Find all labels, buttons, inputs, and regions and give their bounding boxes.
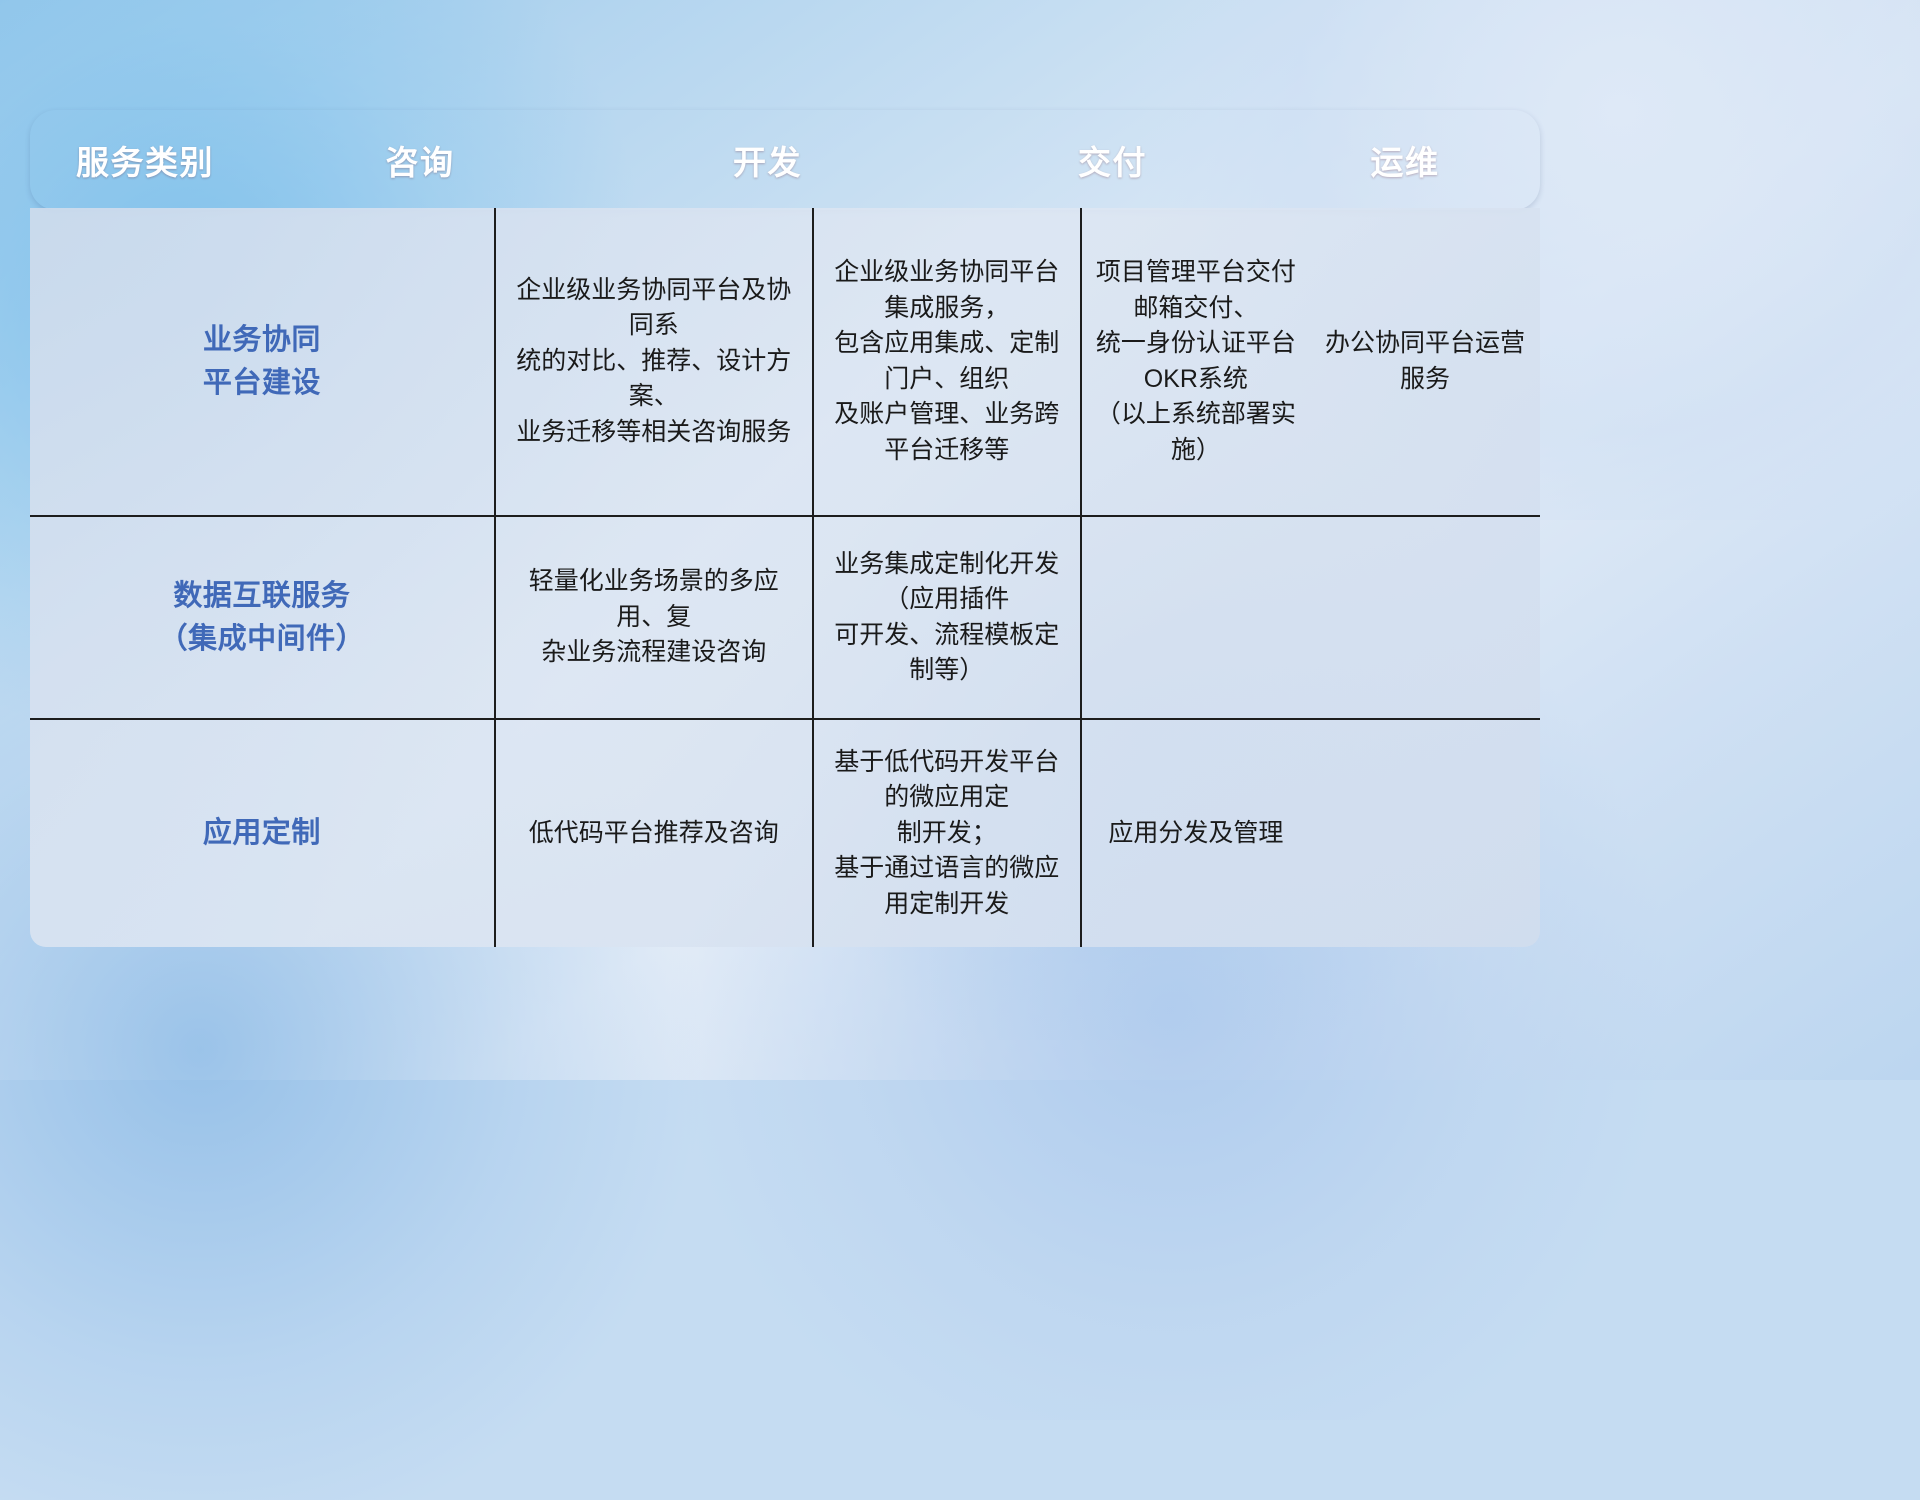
table-row: 业务协同 平台建设 企业级业务协同平台及协同系 统的对比、推荐、设计方案、 业务… — [30, 208, 1540, 515]
cell-operations: 办公协同平台运营服务 — [1310, 208, 1540, 515]
column-header-development: 开发 — [580, 110, 955, 210]
cell-development: 企业级业务协同平台集成服务， 包含应用集成、定制门户、组织 及账户管理、业务跨平… — [812, 208, 1080, 515]
table-body: 业务协同 平台建设 企业级业务协同平台及协同系 统的对比、推荐、设计方案、 业务… — [30, 208, 1540, 947]
service-matrix-table: 服务类别 咨询 开发 交付 运维 业务协同 平台建设 企业级业务协同平台及协同系… — [30, 110, 1540, 947]
row-category-label: 应用定制 — [30, 720, 494, 947]
cell-consulting: 轻量化业务场景的多应用、复 杂业务流程建设咨询 — [494, 517, 812, 718]
cell-operations — [1310, 720, 1540, 947]
row-category-label: 业务协同 平台建设 — [30, 208, 494, 515]
table-row: 应用定制 低代码平台推荐及咨询 基于低代码开发平台的微应用定 制开发； 基于通过… — [30, 718, 1540, 947]
cell-consulting: 低代码平台推荐及咨询 — [494, 720, 812, 947]
cell-delivery — [1080, 517, 1310, 718]
column-header-consulting: 咨询 — [260, 110, 580, 210]
column-header-delivery: 交付 — [955, 110, 1270, 210]
table-header-row: 服务类别 咨询 开发 交付 运维 — [30, 110, 1540, 210]
cell-development: 业务集成定制化开发（应用插件 可开发、流程模板定制等） — [812, 517, 1080, 718]
table-row: 数据互联服务 （集成中间件） 轻量化业务场景的多应用、复 杂业务流程建设咨询 业… — [30, 515, 1540, 718]
cell-consulting: 企业级业务协同平台及协同系 统的对比、推荐、设计方案、 业务迁移等相关咨询服务 — [494, 208, 812, 515]
cell-development: 基于低代码开发平台的微应用定 制开发； 基于通过语言的微应用定制开发 — [812, 720, 1080, 947]
cell-delivery: 应用分发及管理 — [1080, 720, 1310, 947]
column-header-operations: 运维 — [1270, 110, 1540, 210]
column-header-category: 服务类别 — [30, 110, 260, 210]
row-category-label: 数据互联服务 （集成中间件） — [30, 517, 494, 718]
cell-operations — [1310, 517, 1540, 718]
cell-delivery: 项目管理平台交付 邮箱交付、 统一身份认证平台 OKR系统 （以上系统部署实施） — [1080, 208, 1310, 515]
